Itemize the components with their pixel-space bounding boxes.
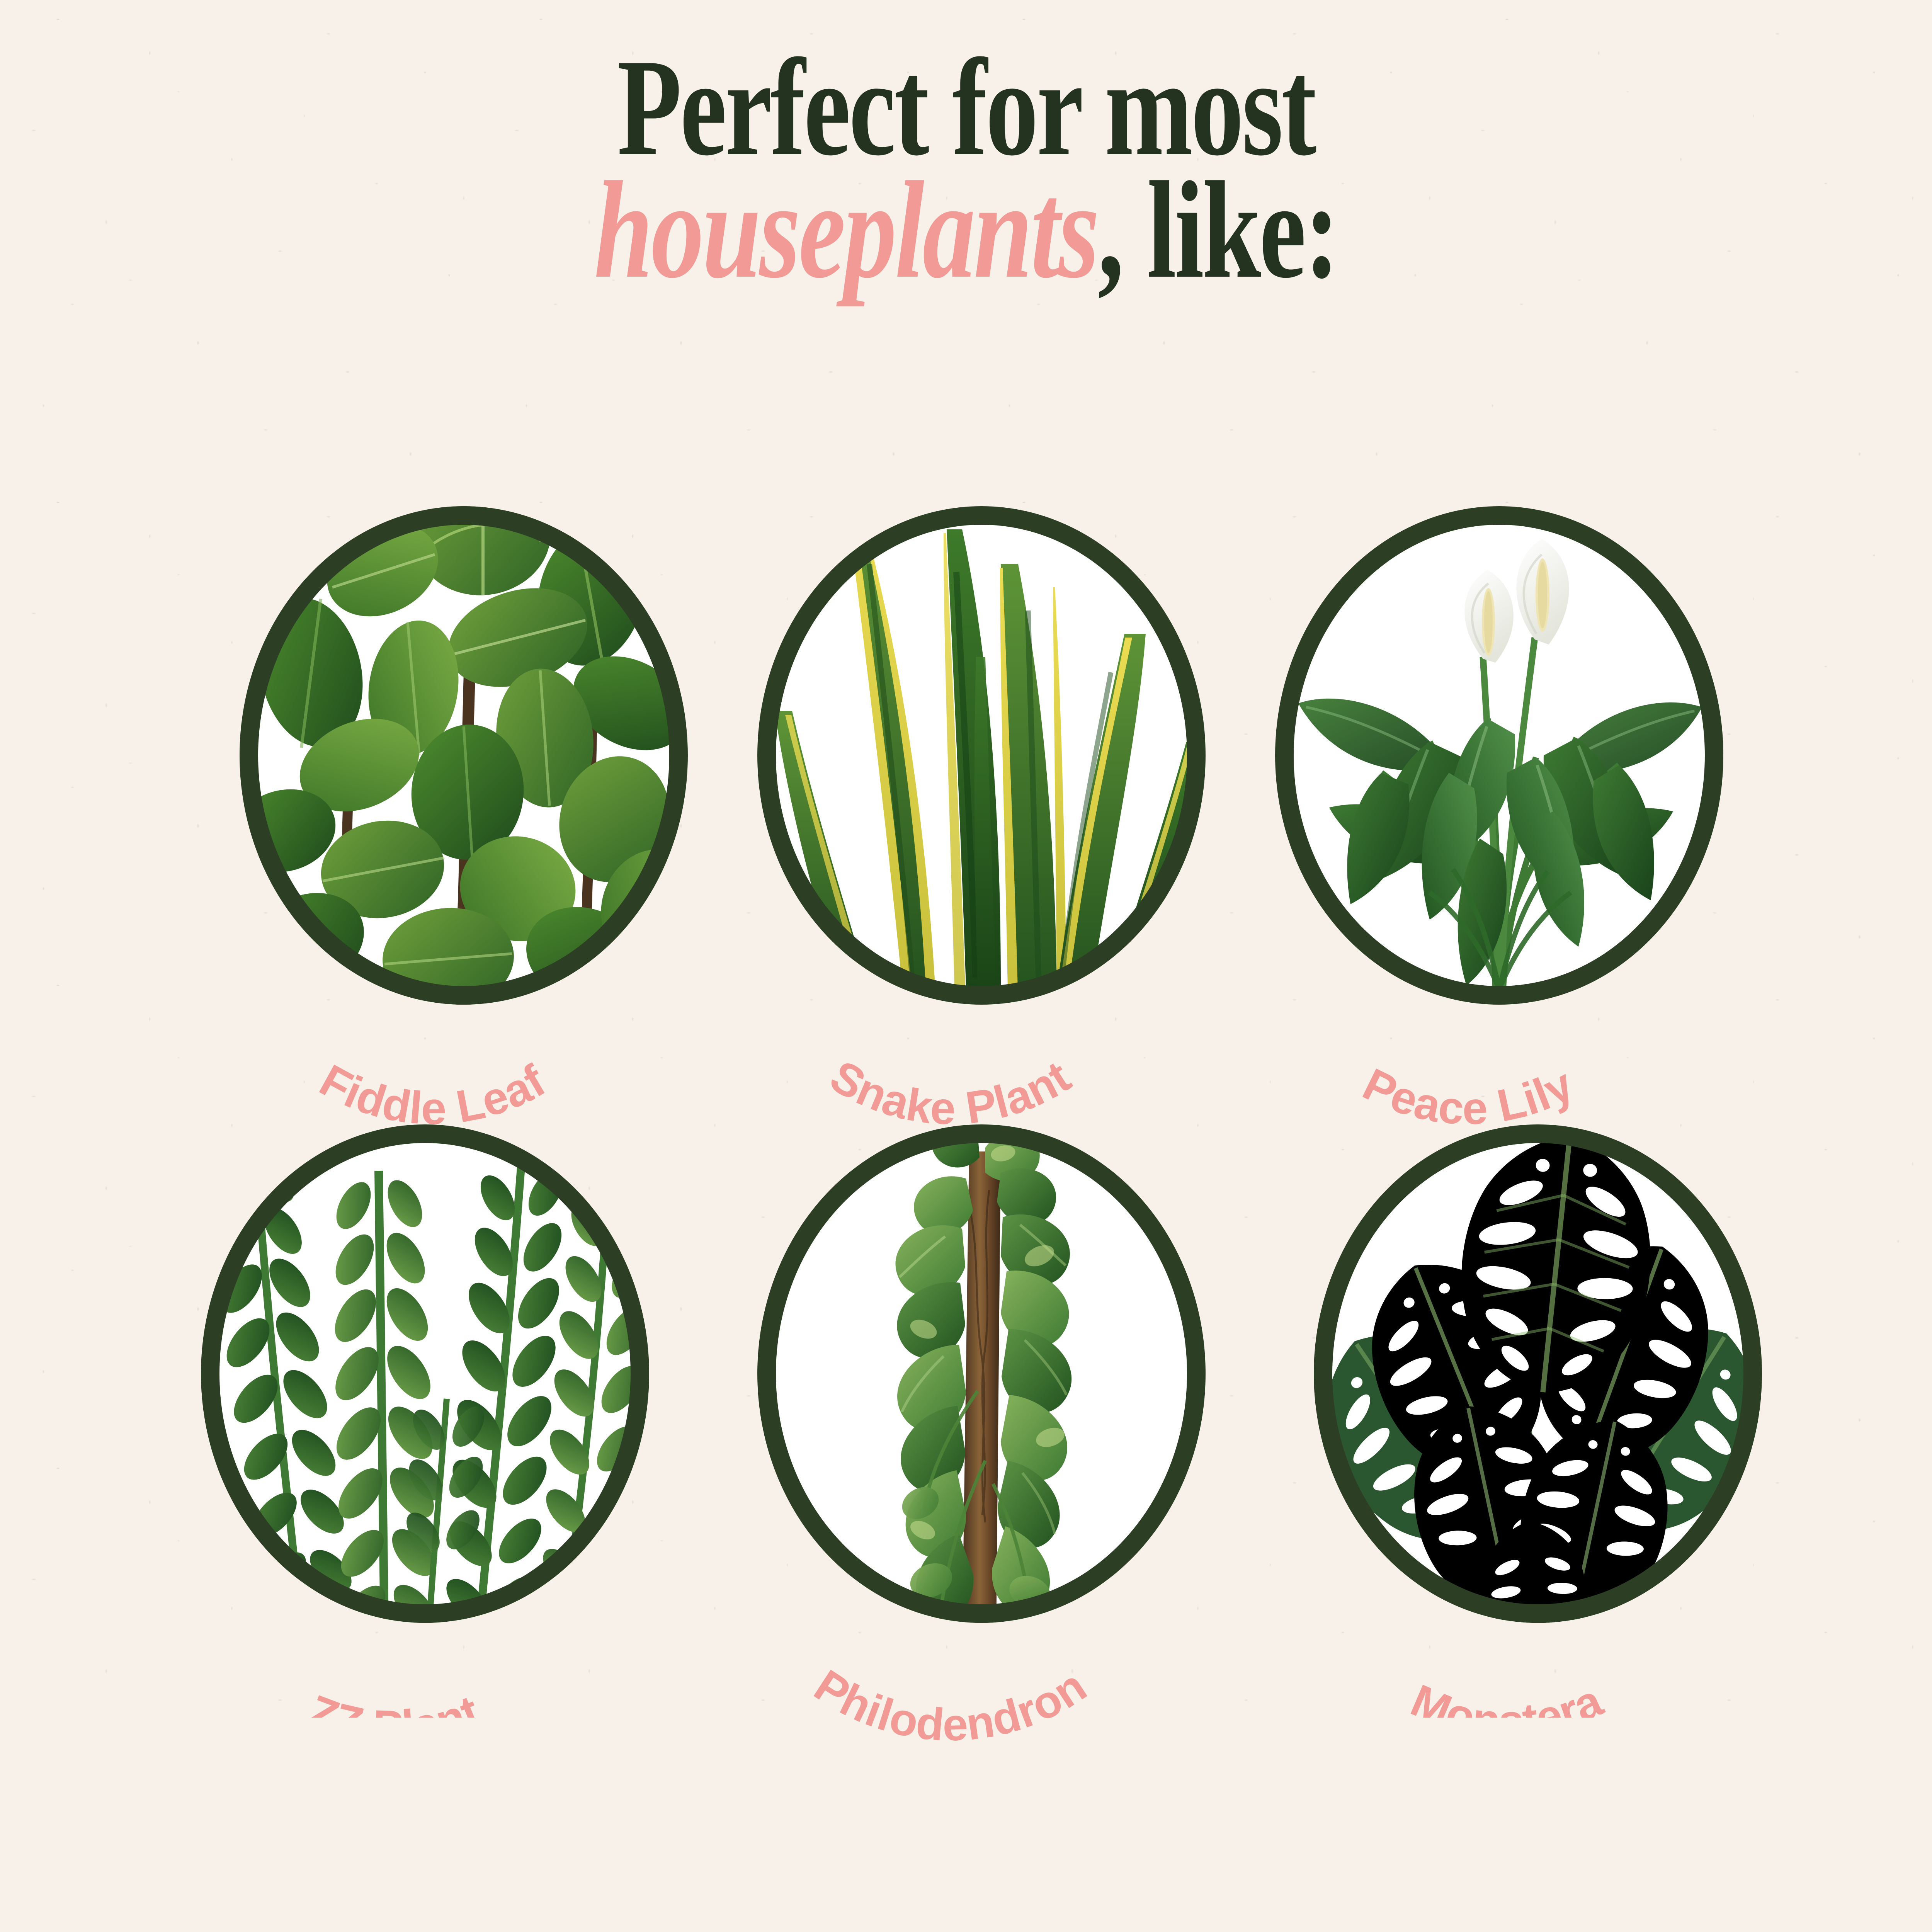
plant-circle-peace-lily xyxy=(1275,506,1723,1005)
plant-row-2: ZZ Plant xyxy=(0,1124,1932,1743)
page-title: Perfect for most houseplants, like: xyxy=(0,46,1932,291)
plant-card-philodendron[interactable]: Philodendron xyxy=(726,1124,1236,1743)
headline-line-1: Perfect for most xyxy=(232,46,1700,169)
plant-row-1: Fiddle Leaf xyxy=(0,506,1932,1124)
plant-photo-snake-plant xyxy=(757,506,1206,1005)
snake-plant-photo xyxy=(730,471,1233,1020)
plant-circle-fiddle-leaf xyxy=(240,506,688,1005)
plant-card-fiddle-leaf[interactable]: Fiddle Leaf xyxy=(209,506,719,1124)
plant-card-monstera[interactable]: Monstera xyxy=(1283,1124,1793,1743)
plant-card-zz-plant[interactable]: ZZ Plant xyxy=(170,1124,680,1743)
monstera-plant-photo xyxy=(1287,1090,1789,1638)
footer-note: and many more indoor/outdoor houseplants… xyxy=(0,1754,1932,1827)
plant-label-philodendron: Philodendron xyxy=(703,1573,1198,1743)
plant-photo-peace-lily xyxy=(1275,506,1723,1005)
plant-circle-zz-plant xyxy=(201,1124,649,1623)
svg-text:Philodendron: Philodendron xyxy=(806,1660,1095,1751)
plant-circle-snake-plant xyxy=(757,506,1206,1005)
plant-photo-zz-plant xyxy=(201,1124,649,1623)
plant-label-monstera: Monstera xyxy=(1260,1573,1754,1743)
footer-note-text: and many more indoor/outdoor houseplants… xyxy=(428,1754,1503,1827)
plant-label-text: Philodendron xyxy=(806,1660,1095,1751)
plant-circle-monstera xyxy=(1314,1124,1762,1623)
svg-text:Monstera: Monstera xyxy=(1404,1675,1610,1747)
plant-circle-philodendron xyxy=(757,1124,1206,1623)
plant-label-zz-plant: ZZ Plant xyxy=(147,1573,641,1743)
plant-grid: Fiddle Leaf xyxy=(0,506,1932,1743)
plant-label-text: Monstera xyxy=(1404,1675,1610,1747)
plant-card-peace-lily[interactable]: Peace Lily xyxy=(1244,506,1754,1124)
philodendron-plant-photo xyxy=(730,1090,1233,1638)
headline-emphasis: houseplants xyxy=(594,153,1098,307)
svg-text:ZZ Plant: ZZ Plant xyxy=(302,1685,487,1752)
plant-photo-monstera xyxy=(1314,1124,1762,1623)
plant-card-snake-plant[interactable]: Snake Plant xyxy=(726,506,1236,1124)
plant-photo-fiddle-leaf xyxy=(240,506,688,1005)
plant-photo-philodendron xyxy=(757,1124,1206,1623)
headline-line-2-rest: , like: xyxy=(1098,153,1338,307)
fiddle-leaf-fig-plant-photo xyxy=(213,471,715,1020)
zz-plant-photo xyxy=(174,1090,676,1638)
plant-label-text: ZZ Plant xyxy=(302,1685,487,1752)
peace-lily-plant-photo xyxy=(1248,471,1750,1020)
headline-line-2: houseplants, like: xyxy=(232,169,1700,291)
